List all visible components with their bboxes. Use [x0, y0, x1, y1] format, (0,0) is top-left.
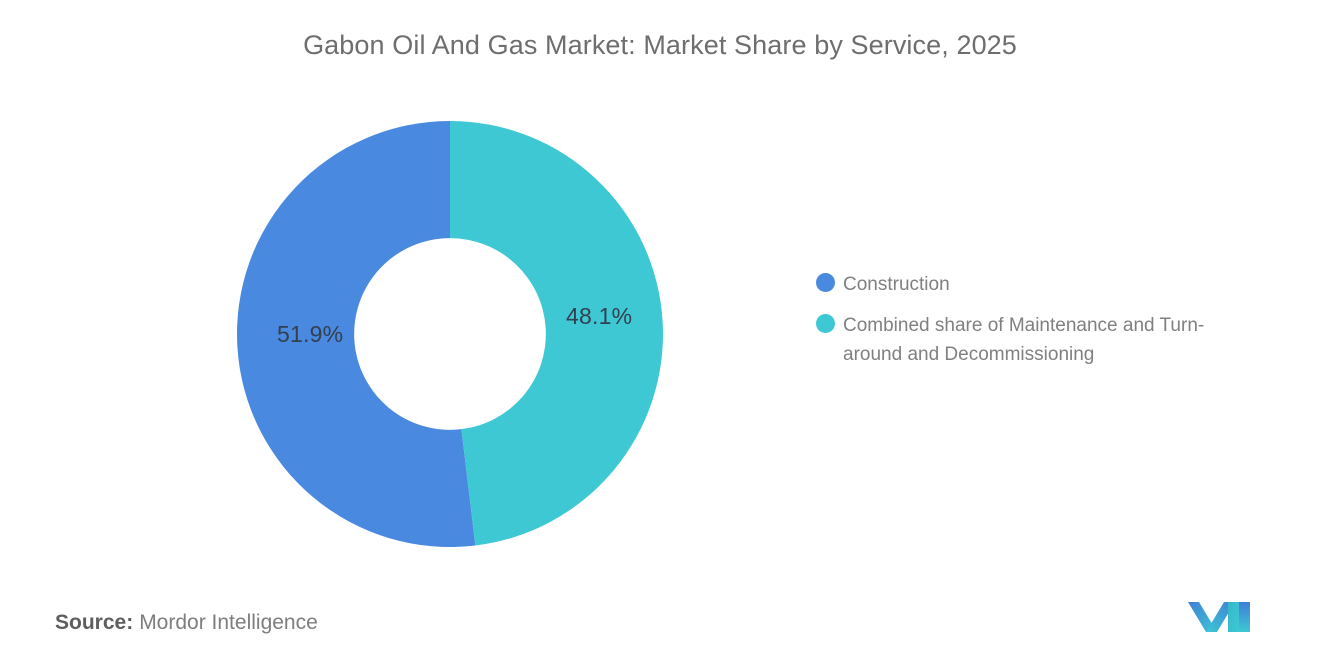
donut-chart: 51.9% 48.1% — [237, 121, 663, 547]
mordor-intelligence-logo — [1186, 598, 1252, 636]
donut-data-label-construction: 51.9% — [277, 321, 343, 348]
legend-label-maintenance: Combined share of Maintenance and Turn-a… — [843, 311, 1243, 369]
page-title: Gabon Oil And Gas Market: Market Share b… — [0, 30, 1320, 61]
legend-swatch-maintenance-icon — [816, 314, 835, 333]
legend-swatch-construction-icon — [816, 273, 835, 292]
chart-legend: Construction Combined share of Maintenan… — [816, 270, 1256, 369]
mordor-intelligence-logo-icon — [1186, 598, 1252, 636]
legend-item-construction[interactable]: Construction — [816, 270, 1256, 299]
donut-data-label-maintenance: 48.1% — [566, 303, 632, 330]
donut-slice-construction[interactable] — [237, 121, 475, 547]
source-attribution: Source:Mordor Intelligence — [55, 611, 318, 635]
source-value: Mordor Intelligence — [139, 611, 318, 634]
source-label: Source: — [55, 611, 133, 634]
donut-slice-maintenance[interactable] — [450, 121, 663, 545]
legend-item-maintenance[interactable]: Combined share of Maintenance and Turn-a… — [816, 311, 1256, 369]
legend-label-construction: Construction — [843, 270, 950, 299]
